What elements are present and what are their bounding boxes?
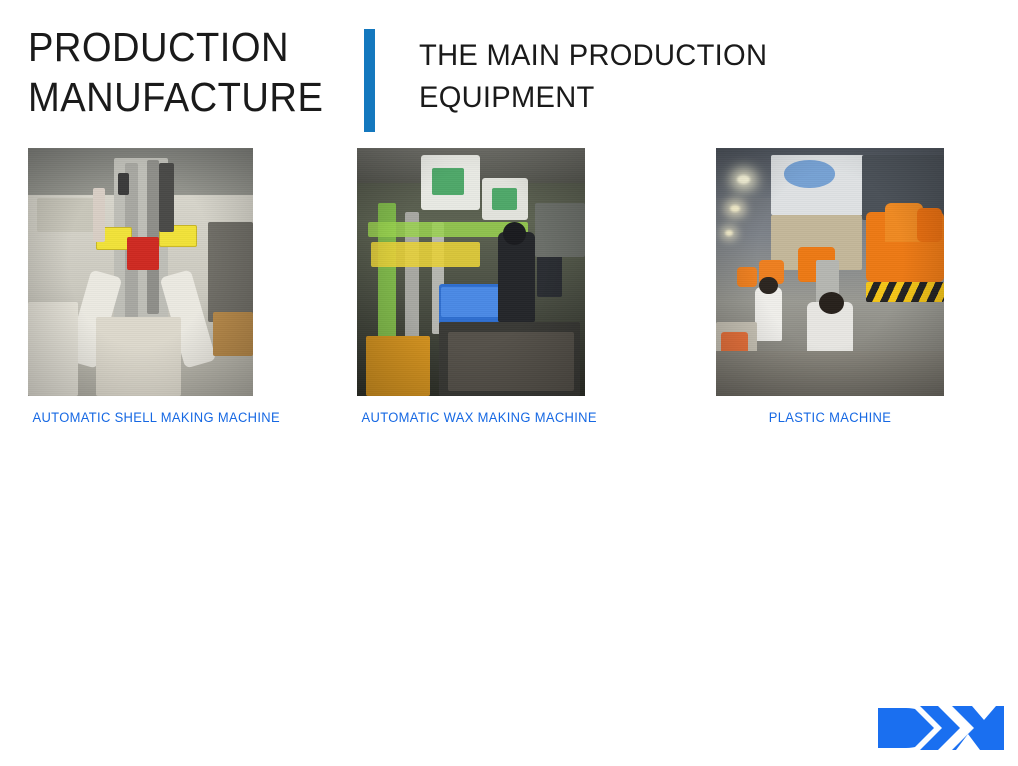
equipment-caption: AUTOMATIC SHELL MAKING MACHINE <box>33 410 249 425</box>
subtitle-line-2: EQUIPMENT <box>419 77 836 119</box>
equipment-cell: PLASTIC MACHINE <box>716 148 944 425</box>
subtitle-line-1: THE MAIN PRODUCTION <box>419 35 836 77</box>
equipment-caption: PLASTIC MACHINE <box>721 410 940 425</box>
equipment-cell: AUTOMATIC WAX MAKING MACHINE <box>357 148 585 425</box>
equipment-row: ROASTER <box>0 455 1018 766</box>
equipment-grid: AUTOMATIC SHELL MAKING MACHINE <box>0 140 1018 766</box>
slide-header: PRODUCTION MANUFACTURE THE MAIN PRODUCTI… <box>28 22 849 132</box>
main-title-line-2: MANUFACTURE <box>28 72 335 122</box>
slide-root: PRODUCTION MANUFACTURE THE MAIN PRODUCTI… <box>0 0 1018 766</box>
equipment-cell: AUTOMATIC SHELL MAKING MACHINE <box>28 148 253 425</box>
main-title-line-1: PRODUCTION <box>28 22 335 72</box>
dyb-logo <box>876 702 1004 754</box>
photo-automatic-wax-making-machine <box>357 148 585 396</box>
equipment-row: AUTOMATIC SHELL MAKING MACHINE <box>0 140 1018 460</box>
title-divider-bar <box>364 29 375 132</box>
equipment-caption: AUTOMATIC WAX MAKING MACHINE <box>362 410 581 425</box>
photo-automatic-shell-making-machine <box>28 148 253 396</box>
photo-plastic-machine <box>716 148 944 396</box>
subtitle: THE MAIN PRODUCTION EQUIPMENT <box>419 35 849 119</box>
main-title: PRODUCTION MANUFACTURE <box>28 22 358 122</box>
